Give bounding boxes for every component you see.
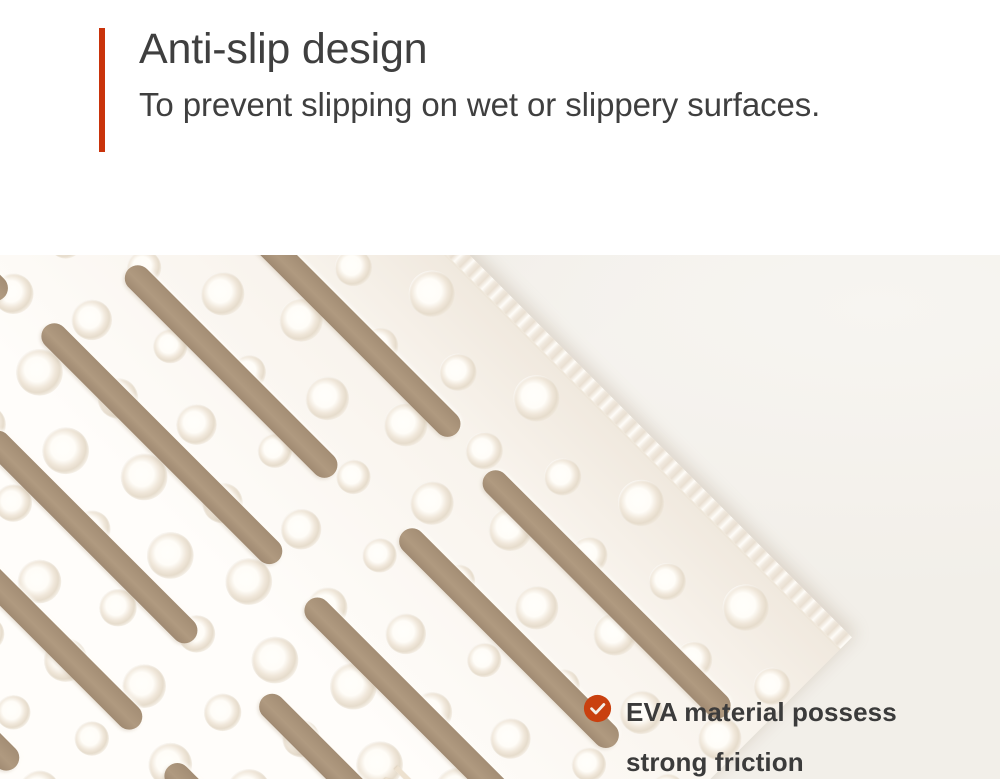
- check-circle-icon: [583, 694, 612, 723]
- product-photo: MADE IN EVA material possess strong fric…: [0, 255, 1000, 779]
- feature-label-line1: EVA material possess: [626, 697, 897, 727]
- page-title: Anti-slip design: [139, 24, 959, 75]
- anti-slip-slot: [299, 592, 558, 779]
- header-section: Anti-slip design To prevent slipping on …: [0, 0, 1000, 255]
- product-feature-banner: Anti-slip design To prevent slipping on …: [0, 0, 1000, 779]
- anti-slip-slot: [214, 255, 466, 442]
- feature-label: EVA material possess strong friction: [626, 687, 897, 779]
- list-item: EVA material possess strong friction: [583, 687, 973, 779]
- header-text-block: Anti-slip design To prevent slipping on …: [139, 24, 959, 124]
- accent-bar: [99, 28, 105, 152]
- page-subtitle: To prevent slipping on wet or slippery s…: [139, 85, 959, 125]
- feature-list: EVA material possess strong friction Non…: [583, 687, 973, 779]
- feature-label-line2: strong friction: [626, 737, 897, 779]
- anti-slip-slot: [159, 758, 418, 779]
- anti-slip-slot: [0, 255, 13, 307]
